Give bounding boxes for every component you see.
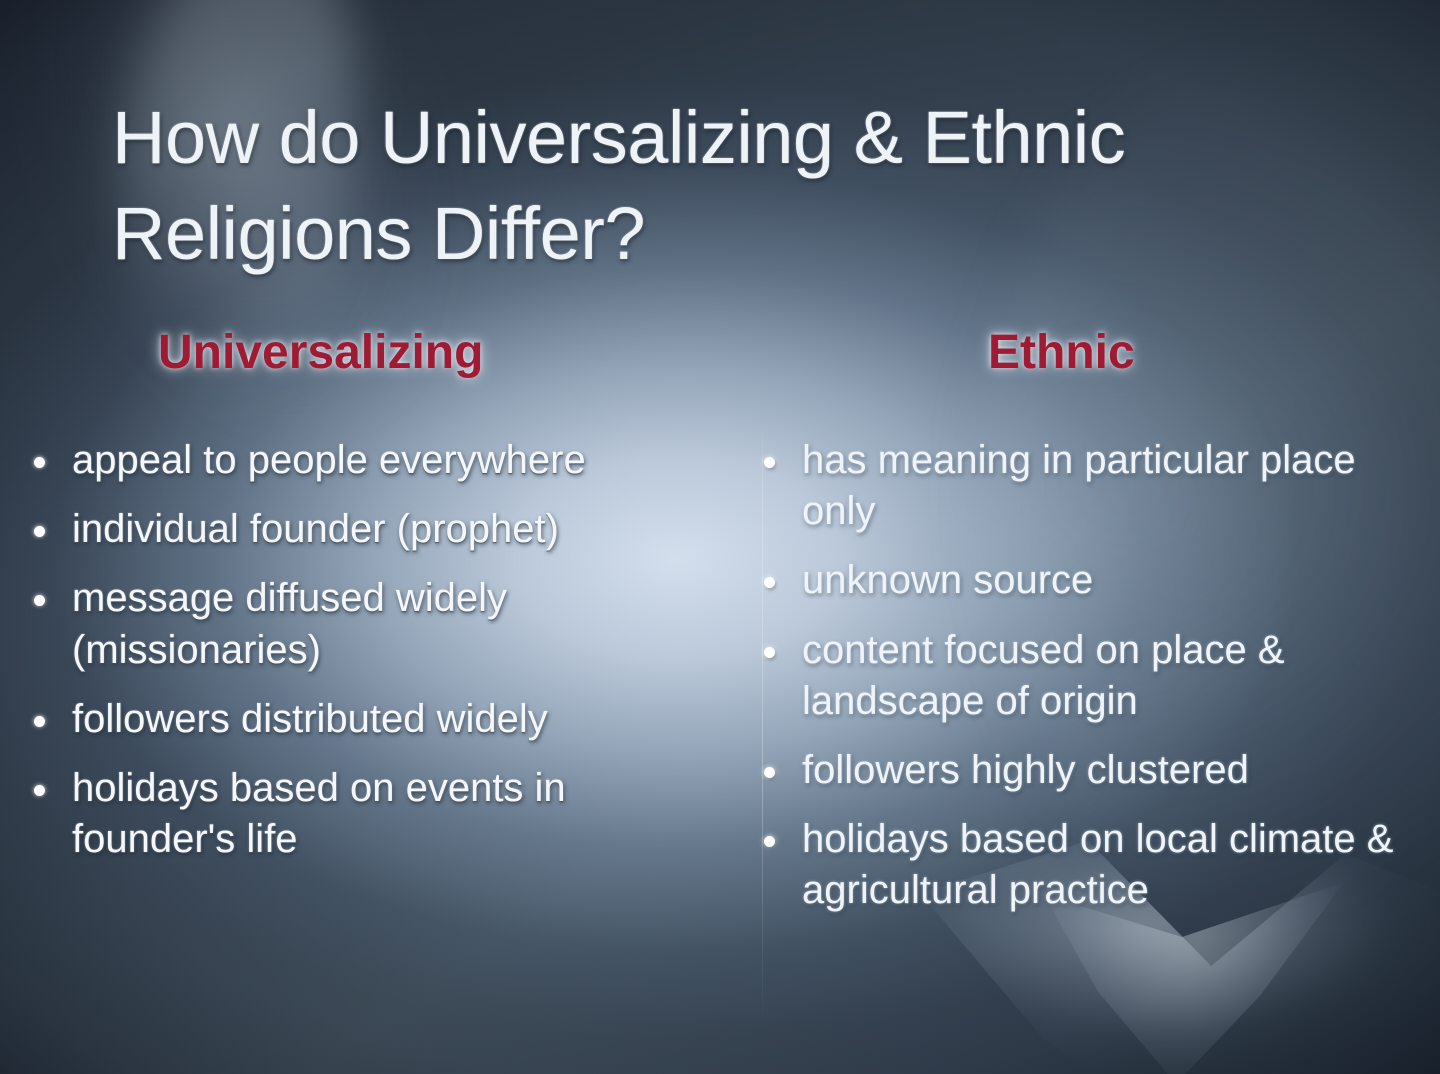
- slide-content: How do Universalizing & Ethnic Religions…: [0, 0, 1440, 1074]
- list-item-text: followers highly clustered: [802, 748, 1249, 792]
- list-item: unknown source: [748, 555, 1428, 606]
- list-item: individual founder (prophet): [18, 504, 708, 555]
- bullet-dot-icon: [34, 716, 45, 727]
- slide-title: How do Universalizing & Ethnic Religions…: [112, 90, 1352, 282]
- bullet-dot-icon: [764, 457, 775, 468]
- bullet-dot-icon: [764, 767, 775, 778]
- bullet-dot-icon: [34, 785, 45, 796]
- list-item-text: has meaning in particular place only: [802, 438, 1356, 533]
- list-item: holidays based on events in founder's li…: [18, 763, 708, 865]
- bullet-dot-icon: [764, 836, 775, 847]
- column-ethnic: has meaning in particular place only unk…: [748, 435, 1428, 935]
- column-heading-universalizing: Universalizing: [158, 325, 483, 380]
- list-item: followers highly clustered: [748, 745, 1428, 796]
- bullet-dot-icon: [764, 647, 775, 658]
- list-item-text: unknown source: [802, 558, 1093, 602]
- bullet-dot-icon: [34, 457, 45, 468]
- list-item-text: message diffused widely (missionaries): [72, 576, 507, 671]
- slide-canvas: How do Universalizing & Ethnic Religions…: [0, 0, 1440, 1074]
- list-item: has meaning in particular place only: [748, 435, 1428, 537]
- list-item-text: content focused on place & landscape of …: [802, 628, 1285, 723]
- list-item-text: holidays based on events in founder's li…: [72, 766, 566, 861]
- column-universalizing: appeal to people everywhere individual f…: [18, 435, 708, 883]
- list-item: appeal to people everywhere: [18, 435, 708, 486]
- column-heading-ethnic: Ethnic: [988, 325, 1135, 380]
- list-item-text: appeal to people everywhere: [72, 438, 586, 482]
- list-item: message diffused widely (missionaries): [18, 573, 708, 675]
- list-item-text: individual founder (prophet): [72, 507, 559, 551]
- bullet-list-ethnic: has meaning in particular place only unk…: [748, 435, 1428, 917]
- list-item: content focused on place & landscape of …: [748, 625, 1428, 727]
- list-item: followers distributed widely: [18, 694, 708, 745]
- bullet-list-universalizing: appeal to people everywhere individual f…: [18, 435, 708, 865]
- bullet-dot-icon: [34, 595, 45, 606]
- list-item-text: followers distributed widely: [72, 697, 548, 741]
- bullet-dot-icon: [764, 577, 775, 588]
- list-item-text: holidays based on local climate & agricu…: [802, 817, 1393, 912]
- list-item: holidays based on local climate & agricu…: [748, 814, 1428, 916]
- bullet-dot-icon: [34, 526, 45, 537]
